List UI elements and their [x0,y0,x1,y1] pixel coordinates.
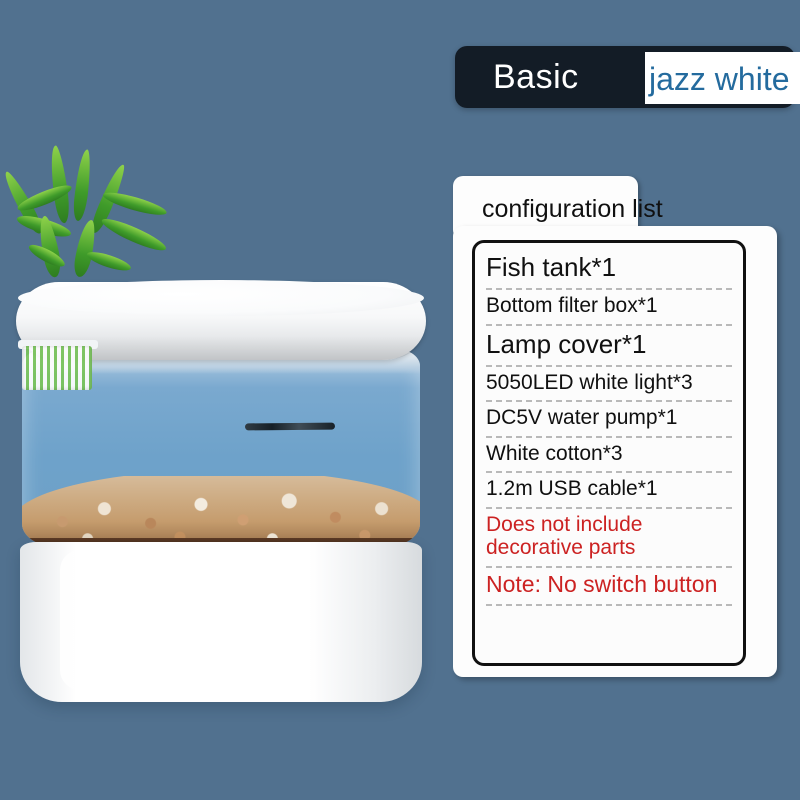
list-separator [486,365,732,367]
list-item-label: Note: No switch button [486,572,736,598]
list-item-label: Does not include decorative parts [486,513,736,560]
list-item: 5050LED white light*3 [486,370,736,398]
list-item: Bottom filter box*1 [486,293,736,321]
list-item: White cotton*3 [486,441,736,469]
list-separator [486,604,732,606]
list-separator [486,436,732,438]
product-image-canvas: Basic jazz white configuration list Fish… [0,0,800,800]
list-item: Note: No switch button [486,571,736,601]
list-separator [486,324,732,326]
list-item-label: Lamp cover*1 [486,330,736,359]
list-item: DC5V water pump*1 [486,405,736,433]
list-separator [486,566,732,568]
configuration-tab-title: configuration list [482,194,663,224]
lid-top-surface [18,280,424,316]
list-item-label: 5050LED white light*3 [486,371,736,395]
list-separator [486,471,732,473]
green-white-filter-box [22,346,92,390]
list-item: Lamp cover*1 [486,329,736,362]
list-item: 1.2m USB cable*1 [486,476,736,504]
color-name-chip[interactable]: jazz white [645,52,800,104]
lid-vent-slot [245,423,335,431]
list-item-label: 1.2m USB cable*1 [486,477,736,501]
configuration-list-rows: Fish tank*1Bottom filter box*1Lamp cover… [486,252,736,609]
product-photo [0,140,440,700]
base-highlight [60,550,100,690]
list-item-label: Fish tank*1 [486,253,736,282]
color-name-label: jazz white [649,61,790,97]
variant-label: Basic [493,58,579,96]
list-separator [486,400,732,402]
list-item: Fish tank*1 [486,252,736,285]
list-item-label: Bottom filter box*1 [486,294,736,318]
list-item-label: White cotton*3 [486,442,736,466]
list-separator [486,507,732,509]
list-item-label: DC5V water pump*1 [486,406,736,430]
list-separator [486,288,732,290]
list-item: Does not include decorative parts [486,512,736,563]
